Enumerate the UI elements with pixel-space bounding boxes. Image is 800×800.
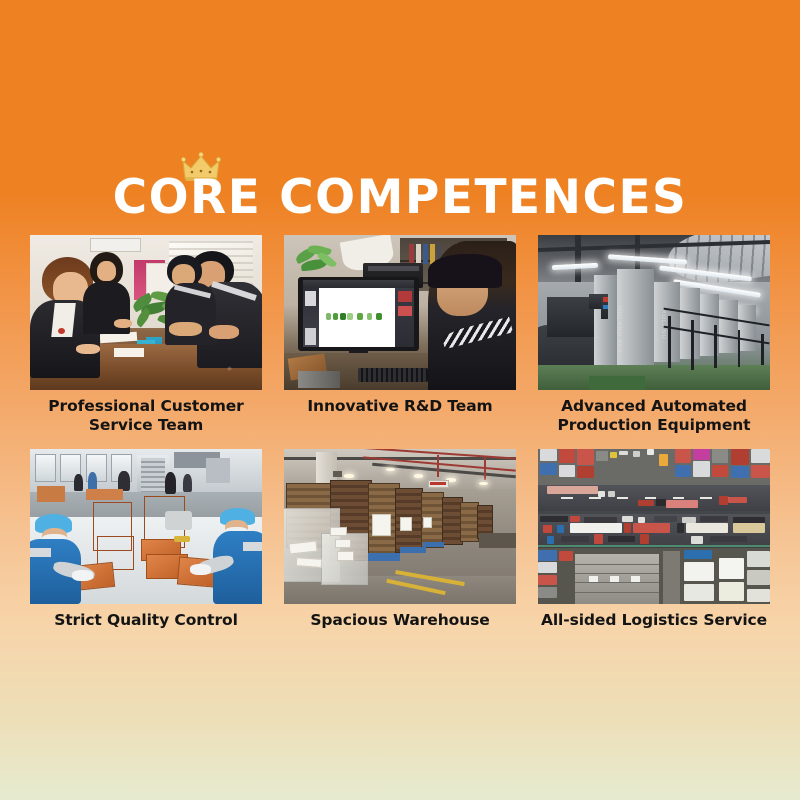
title-block: CORE COMPETENCES [0, 152, 800, 226]
competence-grid: Professional Customer Service Team [30, 235, 770, 630]
card-caption-6: All-sided Logistics Service [538, 611, 770, 630]
card-caption-5: Spacious Warehouse [284, 611, 516, 630]
card-caption-4: Strict Quality Control [30, 611, 262, 630]
caption-line-1: Spacious Warehouse [284, 611, 516, 630]
caption-line-1: All-sided Logistics Service [538, 611, 770, 630]
caption-line-2: Production Equipment [538, 416, 770, 435]
caption-line-2: Service Team [30, 416, 262, 435]
card-caption-1: Professional Customer Service Team [30, 397, 262, 435]
competence-card-1[interactable]: Professional Customer Service Team [30, 235, 262, 435]
photo-innovative-rd-team [284, 235, 516, 390]
caption-line-1: Strict Quality Control [30, 611, 262, 630]
photo-all-sided-logistics-service [538, 449, 770, 604]
design-software-icons [326, 313, 386, 321]
card-caption-3: Advanced Automated Production Equipment [538, 397, 770, 435]
photo-professional-customer-service-team [30, 235, 262, 390]
caption-line-1: Professional Customer [30, 397, 262, 416]
photo-strict-quality-control [30, 449, 262, 604]
competence-card-4[interactable]: Strict Quality Control [30, 449, 262, 630]
photo-advanced-automated-production-equipment: ROLAND 800 ROLAND [538, 235, 770, 390]
photo-spacious-warehouse [284, 449, 516, 604]
competence-card-6[interactable]: All-sided Logistics Service [538, 449, 770, 630]
core-competences-banner: CORE COMPETENCES [0, 0, 800, 800]
competence-card-3[interactable]: ROLAND 800 ROLAND Advanced Automated Pro… [538, 235, 770, 435]
caption-line-1: Advanced Automated [538, 397, 770, 416]
competence-card-2[interactable]: Innovative R&D Team [284, 235, 516, 435]
page-title: CORE COMPETENCES [0, 152, 800, 226]
caption-line-1: Innovative R&D Team [284, 397, 516, 416]
card-caption-2: Innovative R&D Team [284, 397, 516, 416]
competence-card-5[interactable]: Spacious Warehouse [284, 449, 516, 630]
